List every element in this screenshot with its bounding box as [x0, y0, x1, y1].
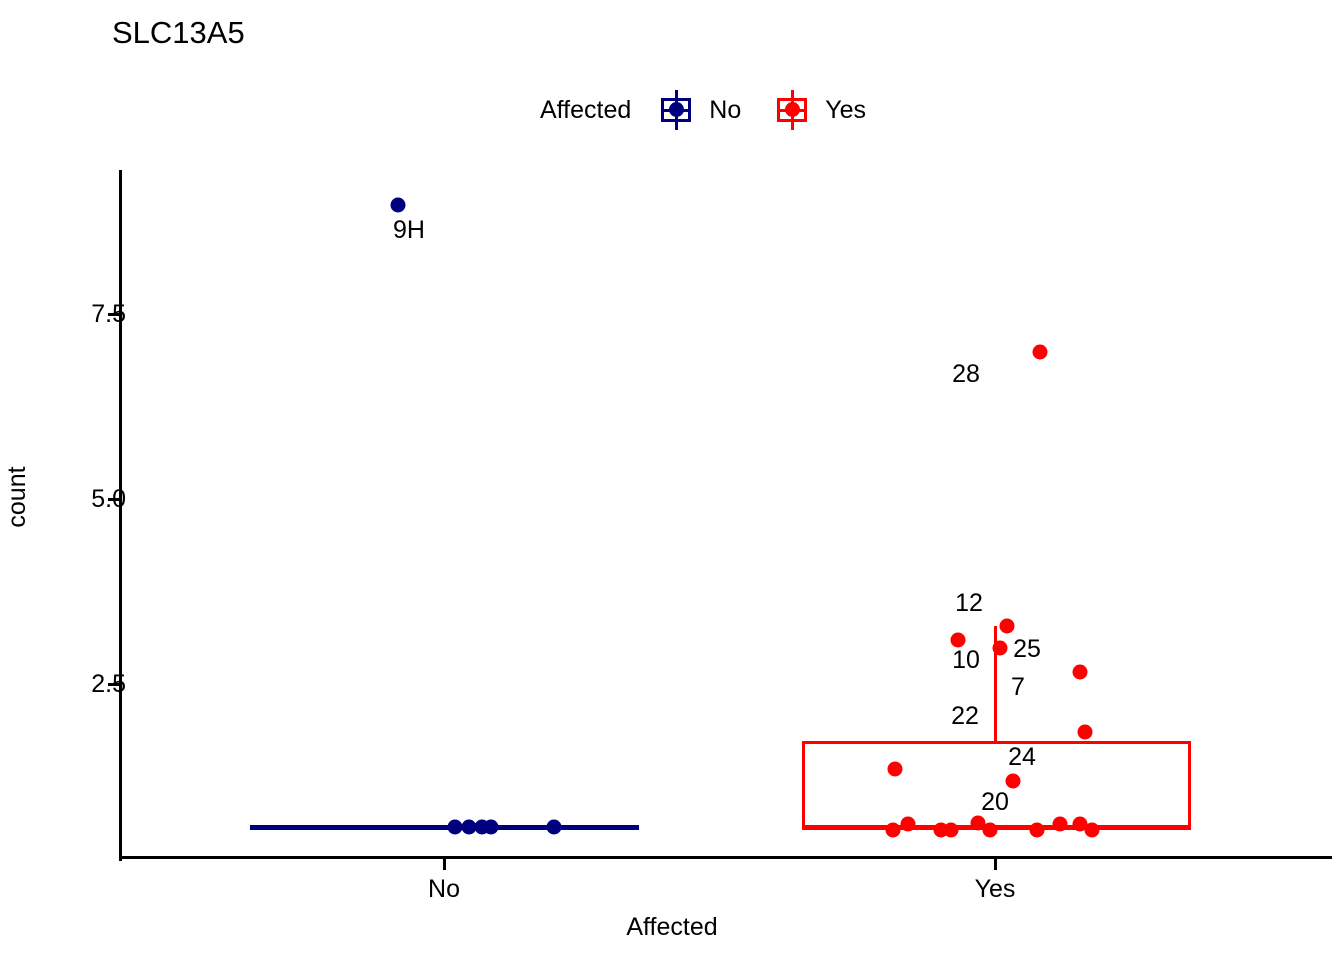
data-point-no-1[interactable] [448, 820, 463, 835]
data-point-yes-b[interactable] [1078, 725, 1093, 740]
data-label-yes-28: 28 [952, 362, 980, 387]
legend: Affected No Yes [540, 88, 894, 132]
data-label-yes-20: 20 [981, 790, 1009, 815]
x-axis-title: Affected [0, 912, 1344, 942]
data-point-yes-12[interactable] [1000, 619, 1015, 634]
legend-key-yes[interactable] [769, 88, 815, 132]
x-tick-mark-yes [994, 859, 997, 870]
x-tick-label-yes: Yes [975, 874, 1016, 904]
data-point-yes-a[interactable] [1073, 665, 1088, 680]
data-point-yes-28[interactable] [1033, 345, 1048, 360]
data-point-no-5[interactable] [547, 820, 562, 835]
legend-key-no[interactable] [653, 88, 699, 132]
plot-panel: 9H 28 12 10 25 7 [121, 170, 1330, 858]
data-point-yes-m1[interactable] [886, 823, 901, 838]
data-point-yes-m2[interactable] [901, 817, 916, 832]
box-no-flat [250, 825, 639, 830]
data-point-yes-c[interactable] [888, 762, 903, 777]
x-tick-label-no: No [428, 874, 460, 904]
data-point-yes-d[interactable] [1006, 774, 1021, 789]
legend-title: Affected [540, 95, 631, 125]
data-point-yes-m10[interactable] [1085, 823, 1100, 838]
chart-canvas: SLC13A5 Affected No Yes 7.5 5.0 2.5 No Y… [0, 0, 1344, 960]
data-point-yes-m7[interactable] [1030, 823, 1045, 838]
data-point-yes-m8[interactable] [1053, 817, 1068, 832]
y-axis-title: count [2, 437, 32, 557]
data-label-yes-7: 7 [1011, 675, 1025, 700]
data-label-yes-22: 22 [951, 704, 979, 729]
data-point-yes-m6[interactable] [983, 823, 998, 838]
data-point-yes-25[interactable] [993, 641, 1008, 656]
data-point-no-outlier[interactable] [391, 198, 406, 213]
x-tick-mark-no [443, 859, 446, 870]
data-label-no-outlier: 9H [393, 218, 425, 243]
data-label-yes-24: 24 [1008, 745, 1036, 770]
data-point-yes-m4[interactable] [944, 823, 959, 838]
legend-label-yes: Yes [825, 95, 866, 125]
data-point-no-4[interactable] [484, 820, 499, 835]
data-label-yes-10: 10 [952, 648, 980, 673]
legend-label-no: No [709, 95, 741, 125]
page-title: SLC13A5 [112, 14, 245, 52]
data-label-yes-12: 12 [955, 591, 983, 616]
data-label-yes-25: 25 [1013, 637, 1041, 662]
